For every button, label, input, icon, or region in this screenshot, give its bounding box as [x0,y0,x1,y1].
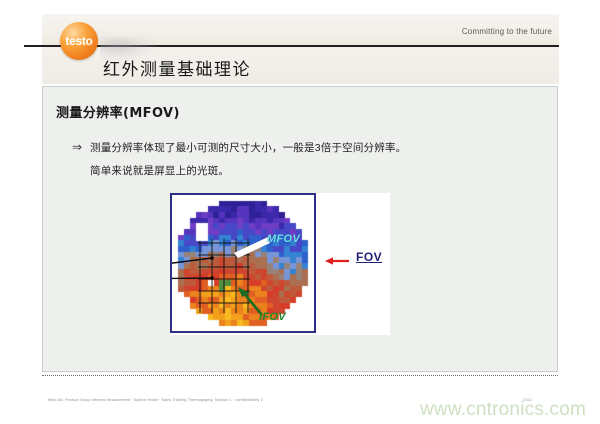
slide-left-margin [0,0,42,424]
mfov-label: MFOV [267,233,300,245]
logo-shadow [100,36,160,62]
bullet-text-line-1: 测量分辨率体现了最小可测的尺寸大小，一般是3倍于空间分辨率。 [90,140,406,155]
section-subtitle: 测量分辨率(MFOV) [56,102,180,121]
thermal-figure: MFOV IFOV FOV [170,193,390,335]
ifov-label: IFOV [259,311,286,323]
thermal-overlay-lines [172,195,314,331]
footer-dotted-divider [42,375,558,376]
watermark: www.cntronics.com [420,399,586,421]
slide-canvas: Committing to the future testo 红外测量基础理论 … [0,0,600,424]
fov-arrow-icon [325,256,351,266]
thermal-image-frame: MFOV IFOV [170,193,316,333]
logo-label: testo [65,35,92,47]
tagline: Committing to the future [462,27,552,36]
fov-label: FOV [356,250,382,264]
bullet-text-line-2: 简单来说就是屏显上的光斑。 [90,163,229,178]
bullet-marker-icon: ⇒ [72,140,82,154]
testo-logo-icon: testo [60,22,98,60]
footer-text: testo AG, Product Group Infrared Measure… [48,398,263,402]
